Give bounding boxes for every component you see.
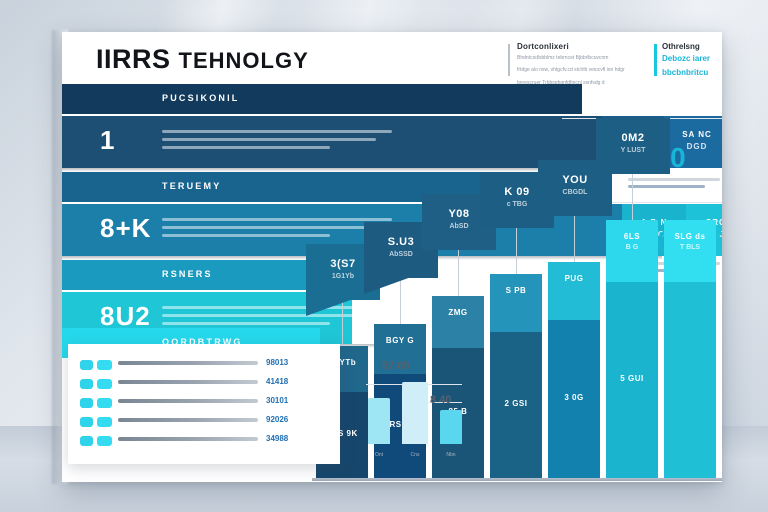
chart-segment-upper-2: ZMG: [432, 296, 484, 348]
chart-callout-stem-4: [574, 216, 575, 262]
chart-column-3[interactable]: 2 GSIS PB: [490, 274, 542, 478]
legend-dot-secondary: [97, 398, 112, 408]
callout-sublabel: CBGDL: [538, 189, 612, 196]
brand-main: IIRRS: [96, 44, 171, 74]
segment-value: SLG ds: [664, 232, 716, 241]
chart-segment-upper-4: PUG: [548, 262, 600, 320]
segment-value: BGY G: [374, 336, 426, 345]
row-header-label: TERUEMY: [162, 181, 221, 191]
legend-row-value: 30101: [266, 396, 288, 405]
row-header-label: PUCSIKONIL: [162, 93, 240, 103]
row-header-0[interactable]: PUCSIKONIL: [62, 84, 582, 114]
mini-bar-caption-1: Cns: [402, 452, 428, 458]
header-note-line-2: frtdge alo nsw, vhtgcfv.cd stchlb veiocv…: [517, 66, 657, 75]
legend-dot-primary: [80, 379, 93, 389]
segment-sublabel: T BLS: [664, 244, 716, 251]
chart-callout-5[interactable]: 0M2Y LUST: [596, 118, 670, 174]
callout-value: YOU: [538, 174, 612, 186]
chart-callout-stem-3: [516, 228, 517, 274]
row-header-2[interactable]: RSNERS: [62, 260, 337, 290]
legend-dot-primary: [80, 417, 93, 427]
row-header-label: RSNERS: [162, 269, 213, 279]
chip-label-primary: SA NC: [664, 130, 722, 139]
chart-segment-upper-5: 6LSB G: [606, 220, 658, 282]
chart-column-4[interactable]: 3 0GPUG: [548, 262, 600, 478]
legend-dot-secondary: [97, 379, 112, 389]
header-note-title: Dortconlixeri: [517, 42, 657, 51]
chart-callout-stem-0: [342, 300, 343, 346]
mini-value-0: 57.05: [382, 360, 410, 372]
header-accent-line-1: Debozc iarer: [662, 53, 722, 65]
header-accent-rule: [654, 44, 657, 76]
segment-value: 3 0G: [548, 393, 600, 402]
mini-bar-2[interactable]: [440, 410, 462, 444]
mini-value-1: 8 40: [430, 394, 451, 406]
mini-bar-caption-0: Ont: [368, 452, 390, 458]
header-accent-title: Othrelsng: [662, 42, 722, 51]
callout-sublabel: Y LUST: [596, 147, 670, 154]
legend-dot-primary: [80, 360, 93, 370]
segment-value: S PB: [490, 286, 542, 295]
chart-segment-upper-3: S PB: [490, 274, 542, 332]
chart-segment-lower-6: [664, 282, 716, 478]
chart-callout-stem-2: [458, 250, 459, 296]
header-note: Dortconlixeri Bhdntcsdlsbblmz tebrncet B…: [517, 42, 657, 88]
legend-row-value: 41418: [266, 377, 288, 386]
chart-callout-stem-1: [400, 278, 401, 324]
chart-segment-lower-5: 5 GUI: [606, 282, 658, 478]
row-body-0[interactable]: 1SHDMAS9SSA NCDGDCOSTCOJV: [62, 116, 602, 168]
callout-tail-0: [306, 300, 350, 316]
legend-row-value: 92026: [266, 415, 288, 424]
infographic-slide: IIRRS TEHNOLGY Dortconlixeri Bhdntcsdlsb…: [62, 32, 722, 482]
chart-segment-lower-3: 2 GSI: [490, 332, 542, 478]
legend-row-text: [118, 380, 258, 384]
kpi-caption-lines: [628, 178, 722, 188]
segment-value: 2 GSI: [490, 399, 542, 408]
mini-bar-0[interactable]: [368, 398, 390, 444]
chart-column-6[interactable]: SLG dsT BLS: [664, 220, 716, 478]
row-metric-value: 1: [100, 125, 115, 156]
mini-bar-chart: 57.058 40OntCnsNbn: [352, 350, 468, 462]
header-note-line-1: Bhdntcsdlsbblmz tebrncet Bjbbrlbcuvcnm: [517, 54, 657, 63]
brand-sub: TEHNOLGY: [179, 48, 309, 73]
segment-sublabel: B G: [606, 244, 658, 251]
mini-bar-caption-2: Nbn: [440, 452, 462, 458]
chart-baseline: [312, 478, 722, 481]
legend-dot-primary: [80, 436, 93, 446]
legend-panel: 9801341418301019202634988: [68, 344, 340, 464]
legend-row-text: [118, 437, 258, 441]
segment-value: PUG: [548, 274, 600, 283]
header-note-rule: [508, 44, 510, 76]
row-metric-value: 8+K: [100, 213, 151, 244]
callout-value: 0M2: [596, 132, 670, 144]
chart-segment-lower-4: 3 0G: [548, 320, 600, 478]
legend-dot-secondary: [97, 360, 112, 370]
page-title: IIRRS TEHNOLGY: [96, 44, 309, 75]
legend-dot-secondary: [97, 417, 112, 427]
legend-row-value: 98013: [266, 358, 288, 367]
legend-row-text: [118, 399, 258, 403]
mini-bar-1[interactable]: [402, 382, 428, 444]
legend-row-text: [118, 418, 258, 422]
chart-segment-upper-6: SLG dsT BLS: [664, 220, 716, 282]
header-accent-line-2: bbcbnbritcu: [662, 67, 722, 79]
segment-value: 5 GUI: [606, 374, 658, 383]
legend-dot-secondary: [97, 436, 112, 446]
segment-value: ZMG: [432, 308, 484, 317]
chart-column-5[interactable]: 5 GUI6LSB G: [606, 220, 658, 478]
row-description-lines: [162, 218, 392, 242]
title-bar: IIRRS TEHNOLGY Dortconlixeri Bhdntcsdlsb…: [62, 32, 722, 84]
legend-row-text: [118, 361, 258, 365]
row-description-lines: [162, 130, 392, 154]
chart-callout-stem-5: [632, 174, 633, 220]
legend-row-value: 34988: [266, 434, 288, 443]
segment-value: 6LS: [606, 232, 658, 241]
legend-dot-primary: [80, 398, 93, 408]
header-accent-note: Othrelsng Debozc iarer bbcbnbritcu: [662, 42, 722, 80]
callout-sublabel: AbSSD: [364, 251, 438, 258]
